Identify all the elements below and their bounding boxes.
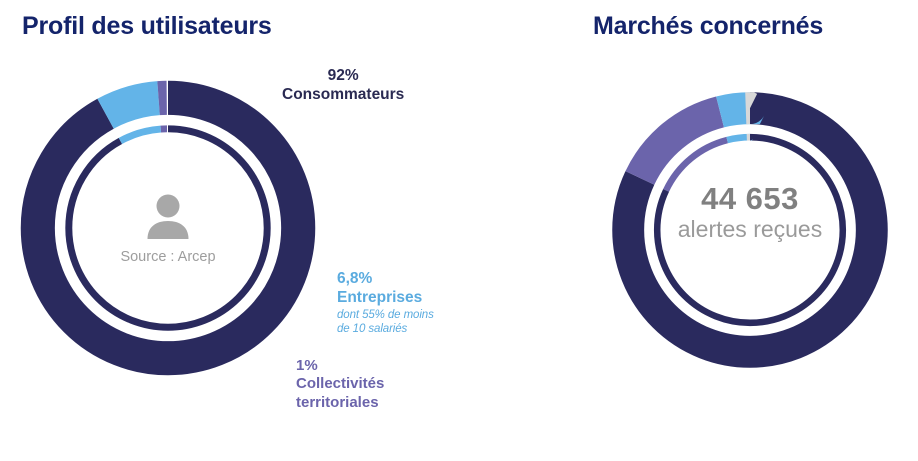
- label-entreprises-note-line2: de 10 salariés: [337, 322, 434, 336]
- label-collectivites-line1: Collectivités: [296, 375, 384, 393]
- page-title-left: Profil des utilisateurs: [22, 12, 272, 41]
- page-title-right: Marchés concernés: [593, 12, 823, 41]
- label-entreprises-note-line1: dont 55% de moins: [337, 308, 434, 322]
- label-collectivites-line2: territoriales: [296, 394, 384, 412]
- outer-ring-marches: [628, 108, 872, 352]
- label-entreprises: 6,8% Entreprises dont 55% de moins de 10…: [337, 270, 434, 337]
- inner-ring-profil: [69, 129, 267, 327]
- label-consommateurs-name: Consommateurs: [282, 86, 404, 105]
- marches-concernes-panel: Marchés concernés 44 653 alertes reçues: [560, 0, 918, 461]
- label-collectivites-pct: 1%: [296, 357, 384, 375]
- inner-ring-marches: [657, 137, 843, 323]
- outer-ring-profil: [38, 98, 298, 358]
- label-collectivites: 1% Collectivités territoriales: [296, 357, 384, 412]
- donut-svg-marches: [605, 85, 895, 375]
- label-consommateurs-pct: 92%: [282, 67, 404, 86]
- label-entreprises-pct: 6,8%: [337, 270, 434, 289]
- label-entreprises-name: Entreprises: [337, 289, 434, 308]
- segment-consommateurs-outer: [38, 98, 298, 358]
- label-consommateurs: 92% Consommateurs: [282, 67, 404, 105]
- donut-svg-profil: [13, 73, 323, 383]
- donut-chart-profil: Source : Arcep: [13, 73, 323, 383]
- segment-consommateurs-inner: [69, 129, 267, 327]
- profil-utilisateurs-panel: Profil des utilisateurs Source : Arcep: [0, 0, 560, 461]
- donut-chart-marches: 44 653 alertes reçues: [605, 85, 895, 375]
